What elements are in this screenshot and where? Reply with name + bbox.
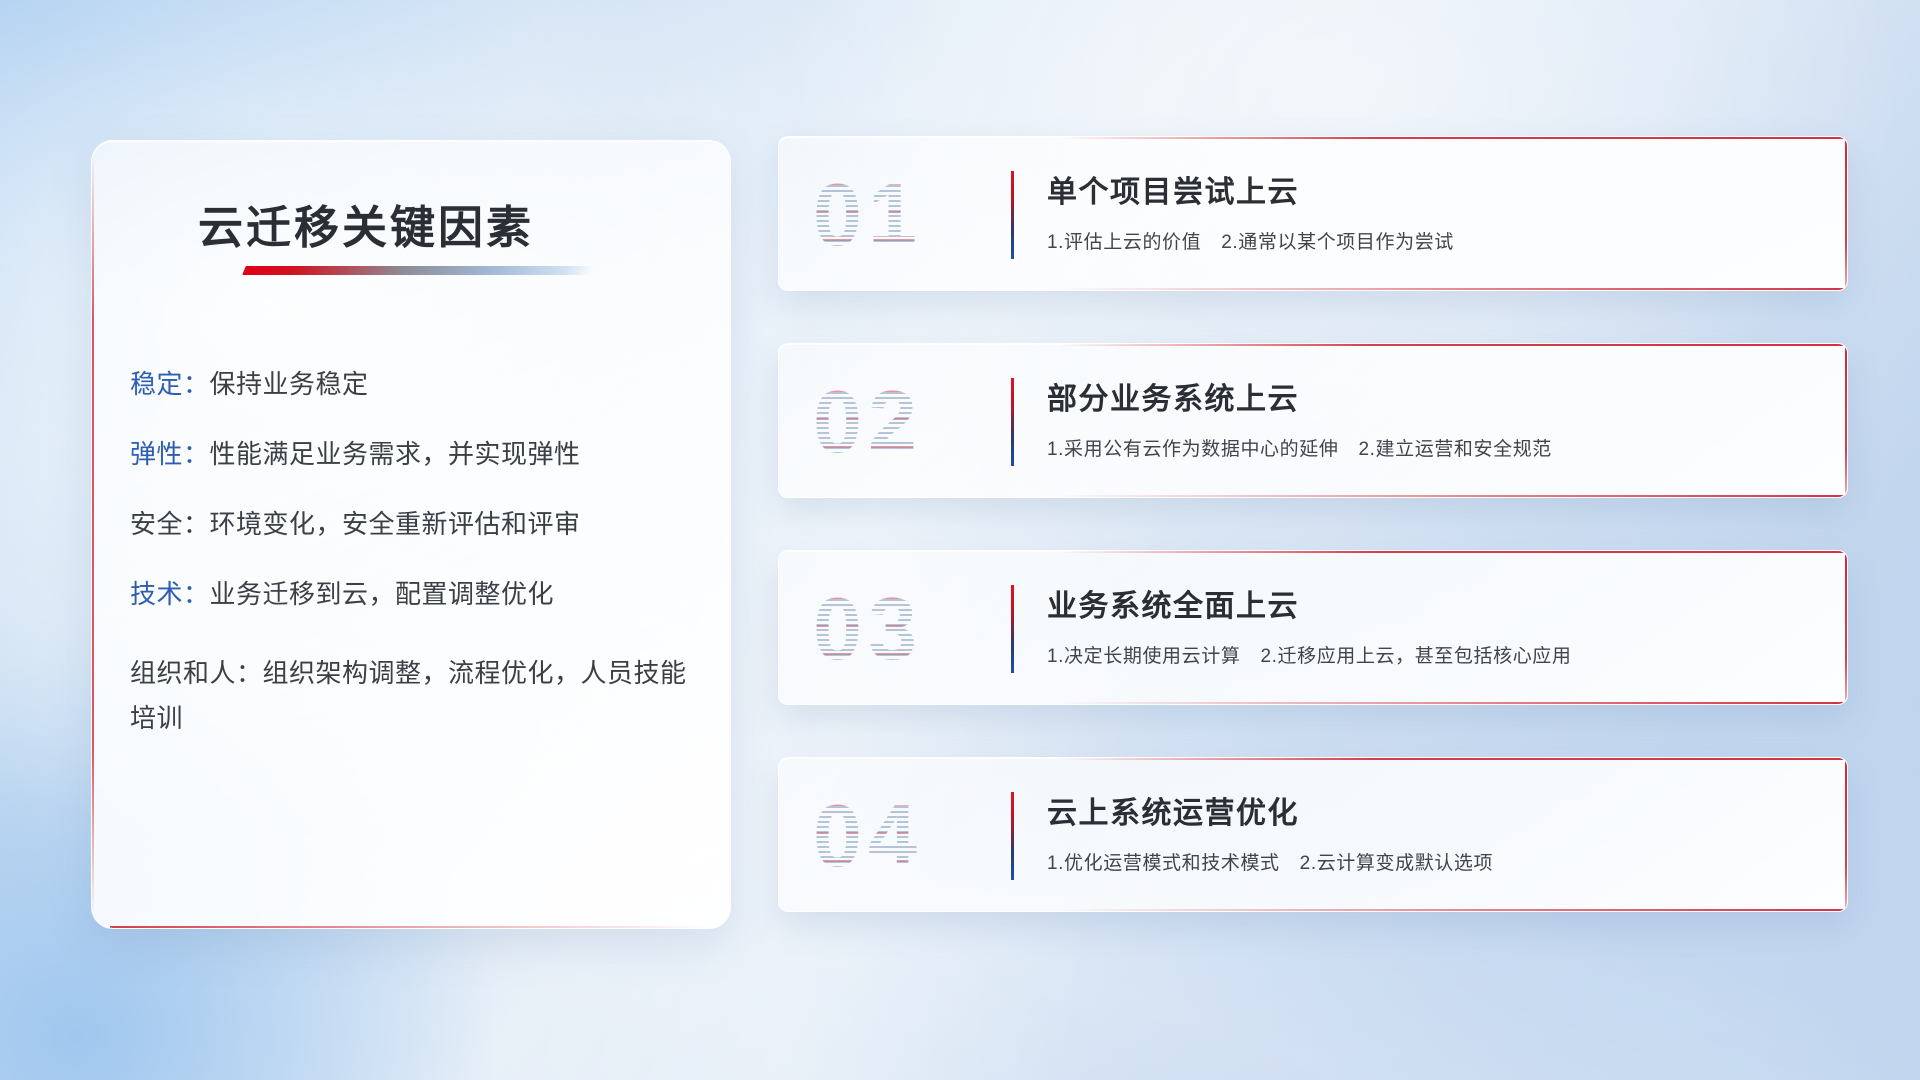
stage-point-2: 2.建立运营和安全规范 <box>1358 439 1551 460</box>
list-item: 安全：环境变化，安全重新评估和评审 <box>130 511 706 537</box>
stage-card-01[interactable]: 01 01 单个项目尝试上云 1.评估上云的价值2.通常以某个项目作为尝试 <box>778 136 1848 291</box>
stage-point-2: 2.通常以某个项目作为尝试 <box>1221 232 1454 253</box>
factor-value: 保持业务稳定 <box>210 369 369 399</box>
stage-card-02[interactable]: 02 02 部分业务系统上云 1.采用公有云作为数据中心的延伸2.建立运营和安全… <box>778 343 1848 498</box>
stage-number-watermark: 01 <box>813 155 1003 275</box>
stage-points: 1.采用公有云作为数据中心的延伸2.建立运营和安全规范 <box>1047 434 1552 461</box>
list-item: 组织和人：组织架构调整，流程优化，人员技能培训 <box>130 651 706 740</box>
card-top-accent <box>1057 551 1847 553</box>
stage-title: 部分业务系统上云 <box>1047 374 1299 418</box>
card-bottom-accent <box>1057 495 1847 497</box>
card-right-accent <box>1845 758 1847 911</box>
key-factors-panel: 云迁移关键因素 稳定：保持业务稳定 弹性：性能满足业务需求，并实现弹性 安全：环… <box>91 140 731 929</box>
factor-key: 组织和人： <box>130 658 263 688</box>
stage-point-1: 1.评估上云的价值 <box>1047 232 1201 253</box>
stage-number-watermark: 03 <box>813 569 1003 689</box>
stage-card-list: 01 01 单个项目尝试上云 1.评估上云的价值2.通常以某个项目作为尝试 02… <box>778 136 1848 964</box>
card-bottom-accent <box>1057 288 1847 290</box>
panel-bottom-accent <box>110 926 712 928</box>
stage-title: 单个项目尝试上云 <box>1047 167 1299 211</box>
card-top-accent <box>1057 344 1847 346</box>
factor-key: 稳定： <box>130 369 210 399</box>
stage-point-1: 1.决定长期使用云计算 <box>1047 646 1240 667</box>
card-divider-bar <box>1011 171 1014 259</box>
card-bottom-accent <box>1057 702 1847 704</box>
stage-number-watermark: 04 <box>813 776 1003 896</box>
card-top-accent <box>1057 137 1847 139</box>
list-item: 弹性：性能满足业务需求，并实现弹性 <box>130 441 706 467</box>
factor-value: 业务迁移到云，配置调整优化 <box>210 579 555 609</box>
stage-points: 1.决定长期使用云计算2.迁移应用上云，甚至包括核心应用 <box>1047 641 1572 668</box>
card-right-accent <box>1845 137 1847 290</box>
stage-point-2: 2.云计算变成默认选项 <box>1300 853 1493 874</box>
slide-stage: 云迁移关键因素 稳定：保持业务稳定 弹性：性能满足业务需求，并实现弹性 安全：环… <box>0 0 1920 1080</box>
stage-title: 云上系统运营优化 <box>1047 788 1299 832</box>
stage-points: 1.评估上云的价值2.通常以某个项目作为尝试 <box>1047 227 1454 254</box>
list-item: 稳定：保持业务稳定 <box>130 371 706 397</box>
stage-point-1: 1.优化运营模式和技术模式 <box>1047 853 1280 874</box>
card-divider-bar <box>1011 378 1014 466</box>
card-bottom-accent <box>1057 909 1847 911</box>
list-item: 技术：业务迁移到云，配置调整优化 <box>130 581 706 607</box>
factor-key: 安全： <box>130 509 210 539</box>
stage-card-04[interactable]: 04 04 云上系统运营优化 1.优化运营模式和技术模式2.云计算变成默认选项 <box>778 757 1848 912</box>
factor-key: 弹性： <box>130 439 210 469</box>
stage-point-2: 2.迁移应用上云，甚至包括核心应用 <box>1260 646 1571 667</box>
stage-title: 业务系统全面上云 <box>1047 581 1299 625</box>
stage-points: 1.优化运营模式和技术模式2.云计算变成默认选项 <box>1047 848 1493 875</box>
stage-card-03[interactable]: 03 03 业务系统全面上云 1.决定长期使用云计算2.迁移应用上云，甚至包括核… <box>778 550 1848 705</box>
stage-number-watermark: 02 <box>813 362 1003 482</box>
page-title: 云迁移关键因素 <box>198 191 534 256</box>
card-top-accent <box>1057 758 1847 760</box>
card-right-accent <box>1845 551 1847 704</box>
title-underline-rule <box>242 266 594 275</box>
factor-key: 技术： <box>130 579 210 609</box>
factor-value: 环境变化，安全重新评估和评审 <box>210 509 581 539</box>
card-divider-bar <box>1011 792 1014 880</box>
factor-value: 性能满足业务需求，并实现弹性 <box>210 439 581 469</box>
card-right-accent <box>1845 344 1847 497</box>
card-divider-bar <box>1011 585 1014 673</box>
stage-point-1: 1.采用公有云作为数据中心的延伸 <box>1047 439 1338 460</box>
key-factor-list: 稳定：保持业务稳定 弹性：性能满足业务需求，并实现弹性 安全：环境变化，安全重新… <box>130 371 706 784</box>
